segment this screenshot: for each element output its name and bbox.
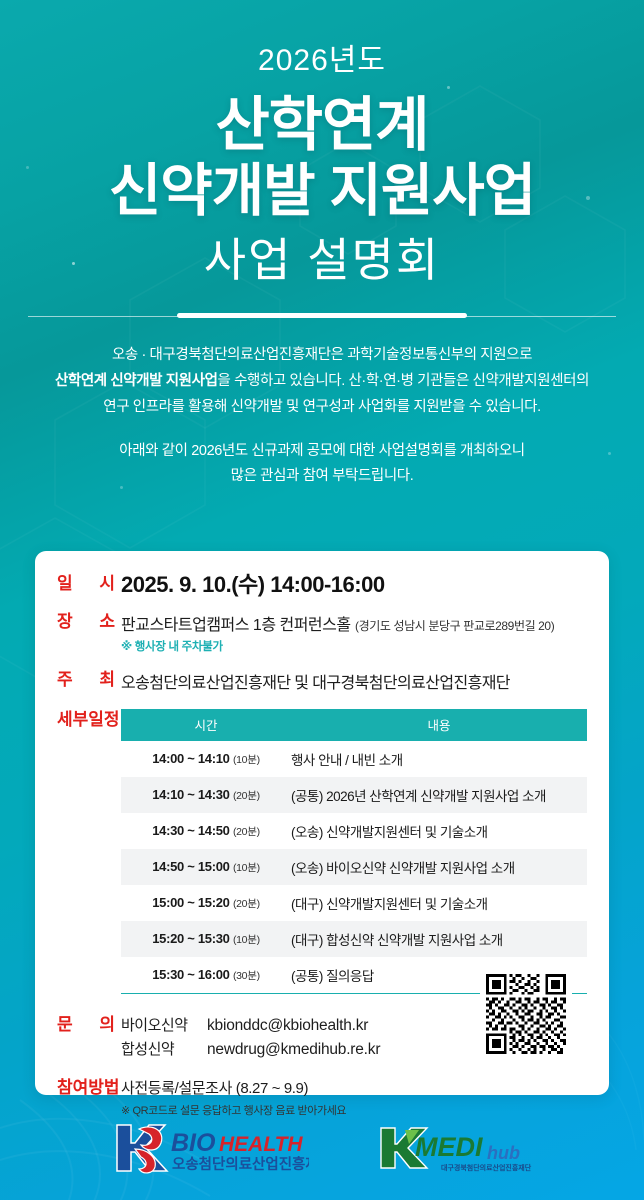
poster-header: 2026년도 산학연계 신약개발 지원사업 사업 설명회 (0, 0, 644, 321)
page-title: 산학연계 신약개발 지원사업 (0, 93, 644, 223)
schedule-table: 시간 내용 14:00 ~ 14:10 (10분) 행사 안내 / 내빈 소개 (121, 709, 587, 994)
label-host-a: 주 (57, 669, 73, 690)
value-place-line: 판교스타트업캠퍼스 1층 컨퍼런스홀 (경기도 성남시 분당구 판교로289번길… (121, 611, 609, 635)
svg-text:HEALTH: HEALTH (219, 1133, 303, 1156)
kbiohealth-logo: BIO HEALTH 오송첨단의료산업진흥재단 (109, 1119, 309, 1177)
cell-time-range: 14:00 ~ 14:10 (152, 751, 229, 766)
label-host: 주 최 (35, 669, 121, 690)
cell-time: 14:00 ~ 14:10 (10분) (121, 741, 291, 777)
header-divider (0, 313, 644, 321)
svg-text:대구경북첨단의료산업진흥재단: 대구경북첨단의료산업진흥재단 (441, 1163, 532, 1172)
cell-time: 15:00 ~ 15:20 (20분) (121, 885, 291, 921)
info-row-schedule: 세부일정 시간 내용 14:00 ~ 14:10 (10분) (35, 709, 609, 994)
schedule-col-time: 시간 (121, 709, 291, 741)
contact-kind: 바이오신약 (121, 1015, 207, 1038)
poster-root: 2026년도 산학연계 신약개발 지원사업 사업 설명회 오송 · 대구경북첨단… (0, 0, 644, 1200)
svg-text:hub: hub (487, 1143, 520, 1163)
value-datetime: 2025. 9. 10.(수) 14:00-16:00 (121, 573, 609, 597)
qr-code[interactable] (480, 968, 572, 1060)
table-row: 14:00 ~ 14:10 (10분) 행사 안내 / 내빈 소개 (121, 741, 587, 777)
cell-time-mins: (20분) (233, 826, 260, 838)
label-contact-b: 의 (99, 1014, 115, 1035)
cell-time-mins: (20분) (233, 898, 260, 910)
table-row: 15:00 ~ 15:20 (20분) (대구) 신약개발지원센터 및 기술소개 (121, 885, 587, 921)
label-datetime-b: 시 (99, 573, 115, 594)
label-place-b: 소 (99, 611, 115, 632)
contact-email[interactable]: newdrug@kmedihub.re.kr (207, 1038, 380, 1061)
year-label: 2026년도 (0, 44, 644, 77)
cell-time: 14:10 ~ 14:30 (20분) (121, 777, 291, 813)
contact-email[interactable]: kbionddc@kbiohealth.kr (207, 1014, 368, 1037)
schedule-header-row: 시간 내용 (121, 709, 587, 741)
title-line-1: 산학연계 (215, 92, 428, 158)
schedule-table-head: 시간 내용 (121, 709, 587, 741)
schedule-table-body: 14:00 ~ 14:10 (10분) 행사 안내 / 내빈 소개 14:10 … (121, 741, 587, 994)
cell-topic: 행사 안내 / 내빈 소개 (291, 741, 587, 777)
label-schedule: 세부일정 (35, 709, 121, 730)
value-place-address: (경기도 성남시 분당구 판교로289번길 20) (355, 619, 554, 633)
info-row-host: 주 최 오송첨단의료산업진흥재단 및 대구경북첨단의료산업진흥재단 (35, 669, 609, 693)
label-place: 장 소 (35, 611, 121, 632)
svg-text:BIO: BIO (171, 1129, 216, 1157)
footer-logos: BIO HEALTH 오송첨단의료산업진흥재단 MEDI hub 대구경북첨단의… (0, 1095, 644, 1200)
cell-time: 15:20 ~ 15:30 (10분) (121, 921, 291, 957)
cell-time-mins: (10분) (233, 934, 260, 946)
desc-p1-bold: 산학연계 신약개발 지원사업 (55, 373, 218, 389)
cell-topic: (오송) 바이오신약 신약개발 지원사업 소개 (291, 849, 587, 885)
label-contact: 문 의 (35, 1014, 121, 1035)
desc-p1-line1: 오송 · 대구경북첨단의료산업진흥재단은 과학기술정보통신부의 지원으로 (112, 347, 532, 363)
label-datetime-a: 일 (57, 573, 73, 594)
contact-kind: 합성신약 (121, 1039, 207, 1062)
table-row: 15:20 ~ 15:30 (10분) (대구) 합성신약 신약개발 지원사업 … (121, 921, 587, 957)
page-subtitle: 사업 설명회 (0, 235, 644, 286)
desc-p2-line2: 많은 관심과 참여 부탁드립니다. (231, 468, 414, 484)
description-paragraph-1: 오송 · 대구경북첨단의료산업진흥재단은 과학기술정보통신부의 지원으로 산학연… (0, 343, 644, 420)
label-contact-a: 문 (57, 1014, 73, 1035)
cell-time-range: 15:20 ~ 15:30 (152, 931, 229, 946)
desc-p1-line2-rest: 을 수행하고 있습니다. 산·학·연·병 기관들은 신약개발지원센터의 (218, 373, 590, 389)
label-datetime: 일 시 (35, 573, 121, 594)
description-paragraph-2: 아래와 같이 2026년도 신규과제 공모에 대한 사업설명회를 개최하오니 많… (0, 439, 644, 491)
cell-time-range: 15:30 ~ 16:00 (152, 967, 229, 982)
value-place-wrap: 판교스타트업캠퍼스 1층 컨퍼런스홀 (경기도 성남시 분당구 판교로289번길… (121, 611, 609, 654)
divider-thick-line (177, 313, 467, 318)
cell-topic: (오송) 신약개발지원센터 및 기술소개 (291, 813, 587, 849)
description-block: 오송 · 대구경북첨단의료산업진흥재단은 과학기술정보통신부의 지원으로 산학연… (0, 343, 644, 490)
value-place-main: 판교스타트업캠퍼스 1층 컨퍼런스홀 (121, 617, 351, 634)
schedule-col-topic: 내용 (291, 709, 587, 741)
cell-topic: (대구) 신약개발지원센터 및 기술소개 (291, 885, 587, 921)
label-place-a: 장 (57, 611, 73, 632)
cell-time-mins: (10분) (233, 862, 260, 874)
cell-time-range: 14:50 ~ 15:00 (152, 859, 229, 874)
cell-time: 15:30 ~ 16:00 (30분) (121, 957, 291, 994)
cell-time-range: 14:10 ~ 14:30 (152, 787, 229, 802)
value-datetime-wrap: 2025. 9. 10.(수) 14:00-16:00 (121, 573, 609, 597)
cell-topic: (공통) 2026년 산학연계 신약개발 지원사업 소개 (291, 777, 587, 813)
cell-time-mins: (20분) (233, 790, 260, 802)
cell-time-mins: (10분) (233, 754, 260, 766)
info-row-datetime: 일 시 2025. 9. 10.(수) 14:00-16:00 (35, 573, 609, 597)
value-host-wrap: 오송첨단의료산업진흥재단 및 대구경북첨단의료산업진흥재단 (121, 669, 609, 693)
svg-text:MEDI: MEDI (415, 1132, 483, 1162)
info-row-place: 장 소 판교스타트업캠퍼스 1층 컨퍼런스홀 (경기도 성남시 분당구 판교로2… (35, 611, 609, 654)
svg-text:오송첨단의료산업진흥재단: 오송첨단의료산업진흥재단 (172, 1155, 309, 1173)
label-host-b: 최 (99, 669, 115, 690)
desc-p1-line3: 연구 인프라를 활용해 신약개발 및 연구성과 사업화를 지원받을 수 있습니다… (103, 399, 540, 415)
title-line-2: 신약개발 지원사업 (0, 160, 644, 223)
cell-topic: (대구) 합성신약 신약개발 지원사업 소개 (291, 921, 587, 957)
info-card: 일 시 2025. 9. 10.(수) 14:00-16:00 장 소 판교스타… (35, 551, 609, 1095)
desc-p2-line1: 아래와 같이 2026년도 신규과제 공모에 대한 사업설명회를 개최하오니 (119, 443, 524, 459)
cell-time-range: 14:30 ~ 14:50 (152, 823, 229, 838)
table-row: 14:30 ~ 14:50 (20분) (오송) 신약개발지원센터 및 기술소개 (121, 813, 587, 849)
schedule-table-wrap: 시간 내용 14:00 ~ 14:10 (10분) 행사 안내 / 내빈 소개 (121, 709, 609, 994)
value-place-note: ※ 행사장 내 주차불가 (121, 638, 609, 654)
table-row: 14:10 ~ 14:30 (20분) (공통) 2026년 산학연계 신약개발… (121, 777, 587, 813)
cell-time: 14:30 ~ 14:50 (20분) (121, 813, 291, 849)
cell-time-range: 15:00 ~ 15:20 (152, 895, 229, 910)
kmedihub-logo: MEDI hub 대구경북첨단의료산업진흥재단 (375, 1122, 535, 1174)
cell-time-mins: (30분) (233, 970, 260, 982)
table-row: 14:50 ~ 15:00 (10분) (오송) 바이오신약 신약개발 지원사업… (121, 849, 587, 885)
value-host: 오송첨단의료산업진흥재단 및 대구경북첨단의료산업진흥재단 (121, 669, 609, 693)
cell-time: 14:50 ~ 15:00 (10분) (121, 849, 291, 885)
